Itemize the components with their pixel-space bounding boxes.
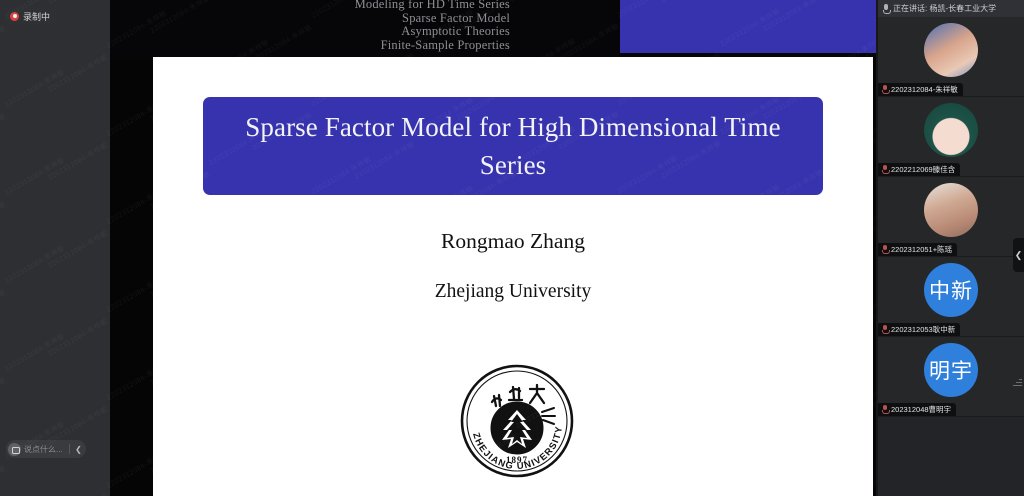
- presentation-slide: Sparse Factor Model for High Dimensional…: [153, 57, 873, 496]
- previous-slide-accent-band: [620, 0, 878, 53]
- avatar: 明宇: [924, 343, 978, 397]
- meeting-screen-share-window: Modeling for HD Time Series Sparse Facto…: [0, 0, 1024, 496]
- avatar: [924, 183, 978, 237]
- active-speaker-banner: 正在讲话: 杨凯-长春工业大学: [878, 0, 1024, 17]
- recording-label: 录制中: [23, 10, 50, 23]
- chat-input-bar[interactable]: 说点什么... ❮: [6, 440, 86, 458]
- zhejiang-university-seal-icon: ZHEJIANG UNIVERSITY 1897: [458, 362, 576, 480]
- active-speaker-label: 正在讲话: 杨凯-长春工业大学: [893, 3, 1020, 14]
- participant-name: 2202312053耿中新: [891, 324, 955, 335]
- participant-name-bar: 2202212069滕佳含: [878, 163, 960, 176]
- microphone-icon: [882, 4, 890, 14]
- previous-slide-strip: Modeling for HD Time Series Sparse Facto…: [110, 0, 878, 58]
- avatar-initials: 中新: [929, 275, 973, 305]
- microphone-muted-icon: [881, 165, 888, 174]
- participant-name-bar: 202312048曹明宇: [878, 403, 956, 416]
- slide-title: Sparse Factor Model for High Dimensional…: [203, 108, 823, 184]
- microphone-muted-icon: [881, 245, 888, 254]
- avatar: [924, 23, 978, 77]
- participant-tile[interactable]: 明宇202312048曹明宇: [878, 337, 1024, 417]
- participant-tile[interactable]: 2202212069滕佳含: [878, 97, 1024, 177]
- resize-grip-icon[interactable]: [1013, 377, 1022, 386]
- participant-name-bar: 2202312051+陈瑶: [878, 243, 957, 256]
- participant-tile[interactable]: 2202312084-朱祥敏: [878, 17, 1024, 97]
- participant-name: 202312048曹明宇: [891, 404, 951, 415]
- chat-input-placeholder[interactable]: 说点什么...: [24, 444, 66, 455]
- chevron-left-icon[interactable]: ❮: [73, 445, 84, 454]
- previous-slide-outline: Modeling for HD Time Series Sparse Facto…: [110, 0, 510, 52]
- outline-item-3: Finite-Sample Properties: [110, 39, 510, 53]
- microphone-muted-icon: [881, 405, 888, 414]
- participant-name-bar: 2202312084-朱祥敏: [878, 83, 963, 96]
- avatar: 中新: [924, 263, 978, 317]
- avatar-initials: 明宇: [929, 355, 973, 385]
- record-dot-icon: [10, 12, 19, 21]
- participant-sidebar: 正在讲话: 杨凯-长春工业大学 2202312084-朱祥敏2202212069…: [878, 0, 1024, 496]
- recording-badge: 录制中: [6, 8, 56, 24]
- chat-bubble-icon[interactable]: [8, 443, 21, 456]
- participant-name: 2202312084-朱祥敏: [891, 84, 958, 95]
- microphone-muted-icon: [881, 85, 888, 94]
- sidebar-collapse-button[interactable]: ❮: [1013, 238, 1024, 272]
- outline-item-2: Asymptotic Theories: [110, 25, 510, 39]
- slide-title-box: Sparse Factor Model for High Dimensional…: [203, 97, 823, 195]
- participant-name-bar: 2202312053耿中新: [878, 323, 960, 336]
- screen-share-stage: Modeling for HD Time Series Sparse Facto…: [0, 0, 878, 496]
- participant-name: 2202312051+陈瑶: [891, 244, 952, 255]
- participant-tile[interactable]: 中新2202312053耿中新: [878, 257, 1024, 337]
- microphone-muted-icon: [881, 325, 888, 334]
- slide-author: Rongmao Zhang: [153, 229, 873, 254]
- svg-text:1897: 1897: [506, 455, 528, 465]
- chevron-left-icon[interactable]: ❮: [1015, 250, 1023, 261]
- participant-tile[interactable]: 2202312051+陈瑶: [878, 177, 1024, 257]
- divider: [69, 444, 70, 454]
- avatar: [924, 103, 978, 157]
- outline-item-0: Modeling for HD Time Series: [110, 0, 510, 12]
- outline-item-1: Sparse Factor Model: [110, 12, 510, 26]
- participant-list[interactable]: 2202312084-朱祥敏2202212069滕佳含2202312051+陈瑶…: [878, 17, 1024, 496]
- slide-affiliation: Zhejiang University: [153, 281, 873, 303]
- participant-name: 2202212069滕佳含: [891, 164, 955, 175]
